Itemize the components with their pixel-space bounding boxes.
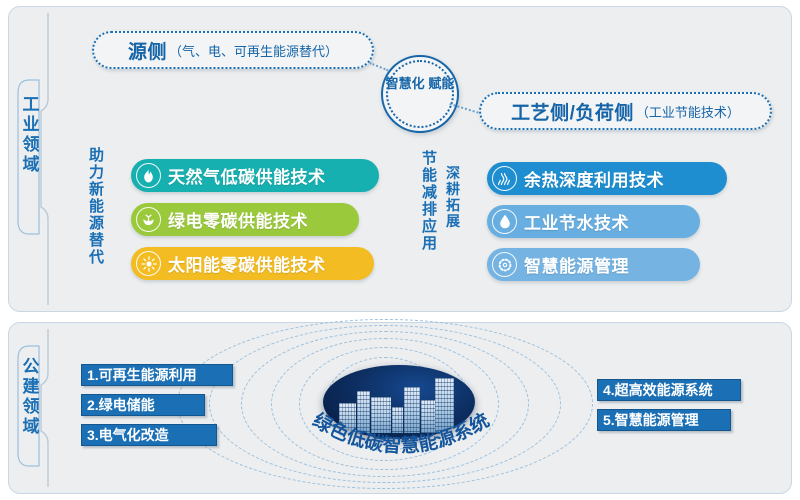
- industrial-panel: 工业领域 源侧 （气、电、可再生能源替代） 智慧化 赋能 工艺侧/负荷侧 （工业…: [8, 6, 792, 312]
- public-item-4-label: 4.超高效能源系统: [603, 380, 713, 400]
- hub-inner-ring: [386, 60, 454, 128]
- vchar-3: 域: [14, 155, 48, 175]
- process-side-title: 工艺侧/负荷侧: [511, 98, 634, 125]
- vchar-2: 减: [420, 184, 439, 201]
- tech-pill-label-4: 工业节水技术: [524, 209, 629, 234]
- vchar-5: 用: [420, 235, 439, 252]
- public-item-5[interactable]: 5.智慧能源管理: [597, 409, 731, 431]
- heat-waves-icon: [492, 166, 517, 191]
- vchar-0: 深: [444, 165, 462, 181]
- vchar-3: 域: [14, 417, 48, 437]
- vchar-1: 业: [14, 115, 48, 135]
- vchar-2: 拓: [444, 197, 462, 213]
- public-item-1[interactable]: 1.可再生能源利用: [81, 364, 233, 386]
- source-side-title: 源侧: [128, 37, 167, 64]
- hub-label-line2: 赋能: [428, 76, 454, 91]
- tech-pill-solar[interactable]: 太阳能零碳供能技术: [131, 247, 374, 280]
- tech-pill-water-saving[interactable]: 工业节水技术: [487, 205, 700, 238]
- tech-pill-label-0: 天然气低碳供能技术: [168, 163, 326, 188]
- vchar-3: 展: [444, 213, 462, 229]
- tech-pill-label-5: 智慧能源管理: [524, 252, 629, 277]
- public-building-panel: 公建领域 绿色低碳智慧能源系统: [8, 322, 792, 494]
- public-item-1-label: 1.可再生能源利用: [87, 365, 197, 385]
- water-drop-icon: [492, 209, 517, 234]
- vchar-0: 公: [14, 357, 48, 377]
- vchar-0: 助: [87, 147, 106, 164]
- tech-pill-label-2: 太阳能零碳供能技术: [168, 251, 326, 276]
- tech-pill-natural-gas[interactable]: 天然气低碳供能技术: [131, 159, 379, 192]
- vchar-1: 力: [87, 164, 106, 181]
- hub-label: 智慧化 赋能: [383, 74, 457, 94]
- vchar-2: 新: [87, 181, 106, 198]
- public-item-3[interactable]: 3.电气化改造: [81, 424, 217, 446]
- city-skyline-globe: 绿色低碳智慧能源系统: [309, 359, 489, 455]
- connector-source-to-hub: [369, 62, 388, 71]
- tech-pill-smart-energy[interactable]: 智慧能源管理: [487, 248, 700, 281]
- smart-enabling-hub[interactable]: 智慧化 赋能: [381, 55, 459, 133]
- flame-icon: [136, 163, 161, 188]
- vchar-0: 工: [14, 95, 48, 115]
- infographic-root: 工业领域 源侧 （气、电、可再生能源替代） 智慧化 赋能 工艺侧/负荷侧 （工业…: [0, 0, 800, 500]
- vchar-0: 节: [420, 150, 439, 167]
- vchar-5: 替: [87, 232, 106, 249]
- sprout-icon: [136, 207, 161, 232]
- vchar-6: 代: [87, 249, 106, 266]
- vchar-1: 能: [420, 167, 439, 184]
- sun-icon: [136, 251, 161, 276]
- vchar-1: 耕: [444, 181, 462, 197]
- vchar-3: 排: [420, 201, 439, 218]
- vchar-4: 源: [87, 215, 106, 232]
- right-group-vertical-label-2: 深耕拓展: [444, 165, 462, 229]
- process-side-capsule[interactable]: 工艺侧/负荷侧 （工业节能技术）: [479, 92, 772, 130]
- public-domain-label: 公建领域: [14, 357, 48, 437]
- tech-pill-label-3: 余热深度利用技术: [524, 166, 664, 191]
- hub-label-line1: 智慧化: [386, 76, 425, 91]
- vchar-2: 领: [14, 135, 48, 155]
- process-side-note: （工业节能技术）: [636, 102, 740, 121]
- source-side-note: （气、电、可再生能源替代）: [169, 41, 338, 60]
- right-group-vertical-label-1: 节能减排应用: [420, 150, 439, 252]
- industrial-domain-label: 工业领域: [14, 95, 48, 175]
- vchar-1: 建: [14, 377, 48, 397]
- globe-ellipse: [323, 365, 475, 439]
- public-item-5-label: 5.智慧能源管理: [603, 410, 699, 430]
- public-item-4[interactable]: 4.超高效能源系统: [597, 379, 741, 401]
- vchar-3: 能: [87, 198, 106, 215]
- tech-pill-waste-heat[interactable]: 余热深度利用技术: [487, 162, 727, 195]
- vchar-2: 领: [14, 397, 48, 417]
- left-group-vertical-label: 助力新能源替代: [87, 147, 106, 266]
- source-side-capsule[interactable]: 源侧 （气、电、可再生能源替代）: [92, 31, 374, 69]
- public-item-2[interactable]: 2.绿电储能: [81, 394, 205, 416]
- public-item-2-label: 2.绿电储能: [87, 395, 155, 415]
- tech-pill-green-power[interactable]: 绿电零碳供能技术: [131, 203, 359, 236]
- public-item-3-label: 3.电气化改造: [87, 425, 169, 445]
- tech-pill-label-1: 绿电零碳供能技术: [168, 207, 308, 232]
- dotted-circle-icon: [492, 252, 517, 277]
- vchar-4: 应: [420, 218, 439, 235]
